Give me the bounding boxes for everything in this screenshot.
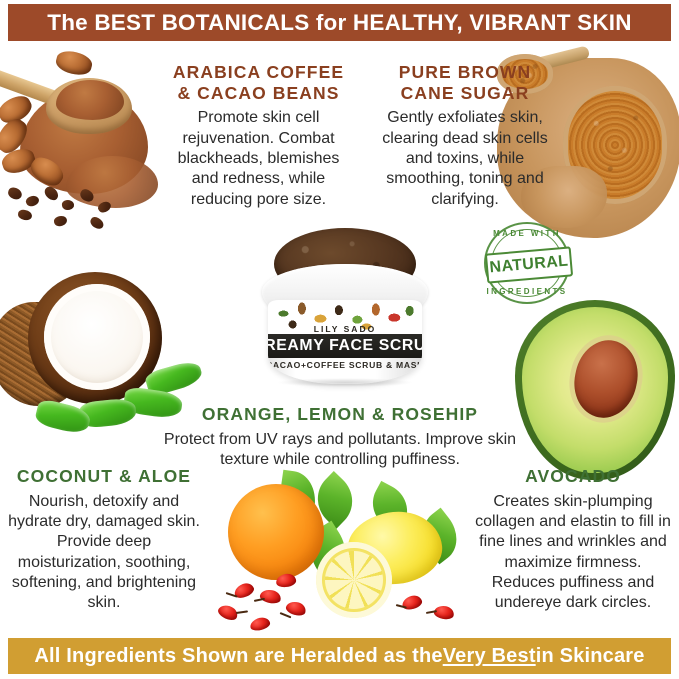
natural-ingredients-badge-icon: MADE WITH NATURAL INGREDIENTS <box>484 222 570 304</box>
infographic-page: The BEST BOTANICALS for HEALTHY, VIBRANT… <box>0 0 679 679</box>
product-brand: LILY SADO <box>268 322 422 335</box>
ingredient-heading-citrus-rosehip: ORANGE, LEMON & ROSEHIP <box>160 404 520 425</box>
ingredient-body-avocado: Creates skin-plumping collagen and elast… <box>474 492 672 614</box>
badge-center-box: NATURAL <box>485 246 573 283</box>
badge-center-text: NATURAL <box>489 253 569 278</box>
ingredient-heading-coffee-cacao: ARABICA COFFEE & CACAO BEANS <box>166 62 351 103</box>
product-name-band: CREAMY FACE SCRUB <box>268 334 422 358</box>
label-confetti-pattern <box>268 300 422 334</box>
jar-shadow <box>276 378 414 387</box>
badge-arc-bottom: INGREDIENTS <box>484 287 570 296</box>
ingredient-body-coconut-aloe: Nourish, detoxify and hydrate dry, damag… <box>6 492 202 614</box>
ingredient-heading-coconut-aloe: COCONUT & ALOE <box>6 466 202 487</box>
bottom-banner-text-after: in Skincare <box>536 645 645 668</box>
avocado-half-image <box>515 300 675 480</box>
product-jar-image: LILY SADO CREAMY FACE SCRUB CACAO+COFFEE… <box>262 228 428 388</box>
product-name: CREAMY FACE SCRUB <box>268 337 422 355</box>
jar-label: LILY SADO CREAMY FACE SCRUB CACAO+COFFEE… <box>268 300 422 384</box>
ingredient-block-coffee-cacao: ARABICA COFFEE & CACAO BEANS Promote ski… <box>166 62 351 210</box>
ingredient-body-brown-sugar: Gently exfoliates skin, clearing dead sk… <box>374 108 556 210</box>
ingredient-body-citrus-rosehip: Protect from UV rays and pollutants. Imp… <box>160 430 520 471</box>
badge-arc-top: MADE WITH <box>484 229 570 238</box>
ingredient-block-coconut-aloe: COCONUT & ALOE Nourish, detoxify and hyd… <box>6 466 202 614</box>
product-subtitle: CACAO+COFFEE SCRUB & MASK <box>268 358 422 372</box>
scrub-contents <box>274 228 416 300</box>
top-banner: The BEST BOTANICALS for HEALTHY, VIBRANT… <box>8 4 671 41</box>
ingredient-body-coffee-cacao: Promote skin cell rejuvenation. Combat b… <box>166 108 351 210</box>
top-banner-text: The BEST BOTANICALS for HEALTHY, VIBRANT… <box>47 10 631 36</box>
bottom-banner-text-before: All Ingredients Shown are Heralded as th… <box>34 645 442 668</box>
bottom-banner-text-underlined: Very Best <box>443 645 536 668</box>
ingredient-block-brown-sugar: PURE BROWN CANE SUGAR Gently exfoliates … <box>374 62 556 210</box>
bottom-banner: All Ingredients Shown are Heralded as th… <box>8 638 671 674</box>
ingredient-block-avocado: AVOCADO Creates skin-plumping collagen a… <box>474 466 672 614</box>
ingredient-heading-avocado: AVOCADO <box>474 466 672 487</box>
ingredient-block-citrus-rosehip: ORANGE, LEMON & ROSEHIP Protect from UV … <box>160 404 520 470</box>
orange-lemon-rosehip-image <box>218 466 468 638</box>
ingredient-heading-brown-sugar: PURE BROWN CANE SUGAR <box>374 62 556 103</box>
jar-rim <box>262 264 428 324</box>
cacao-beans-powder-scoop-image <box>0 38 170 238</box>
